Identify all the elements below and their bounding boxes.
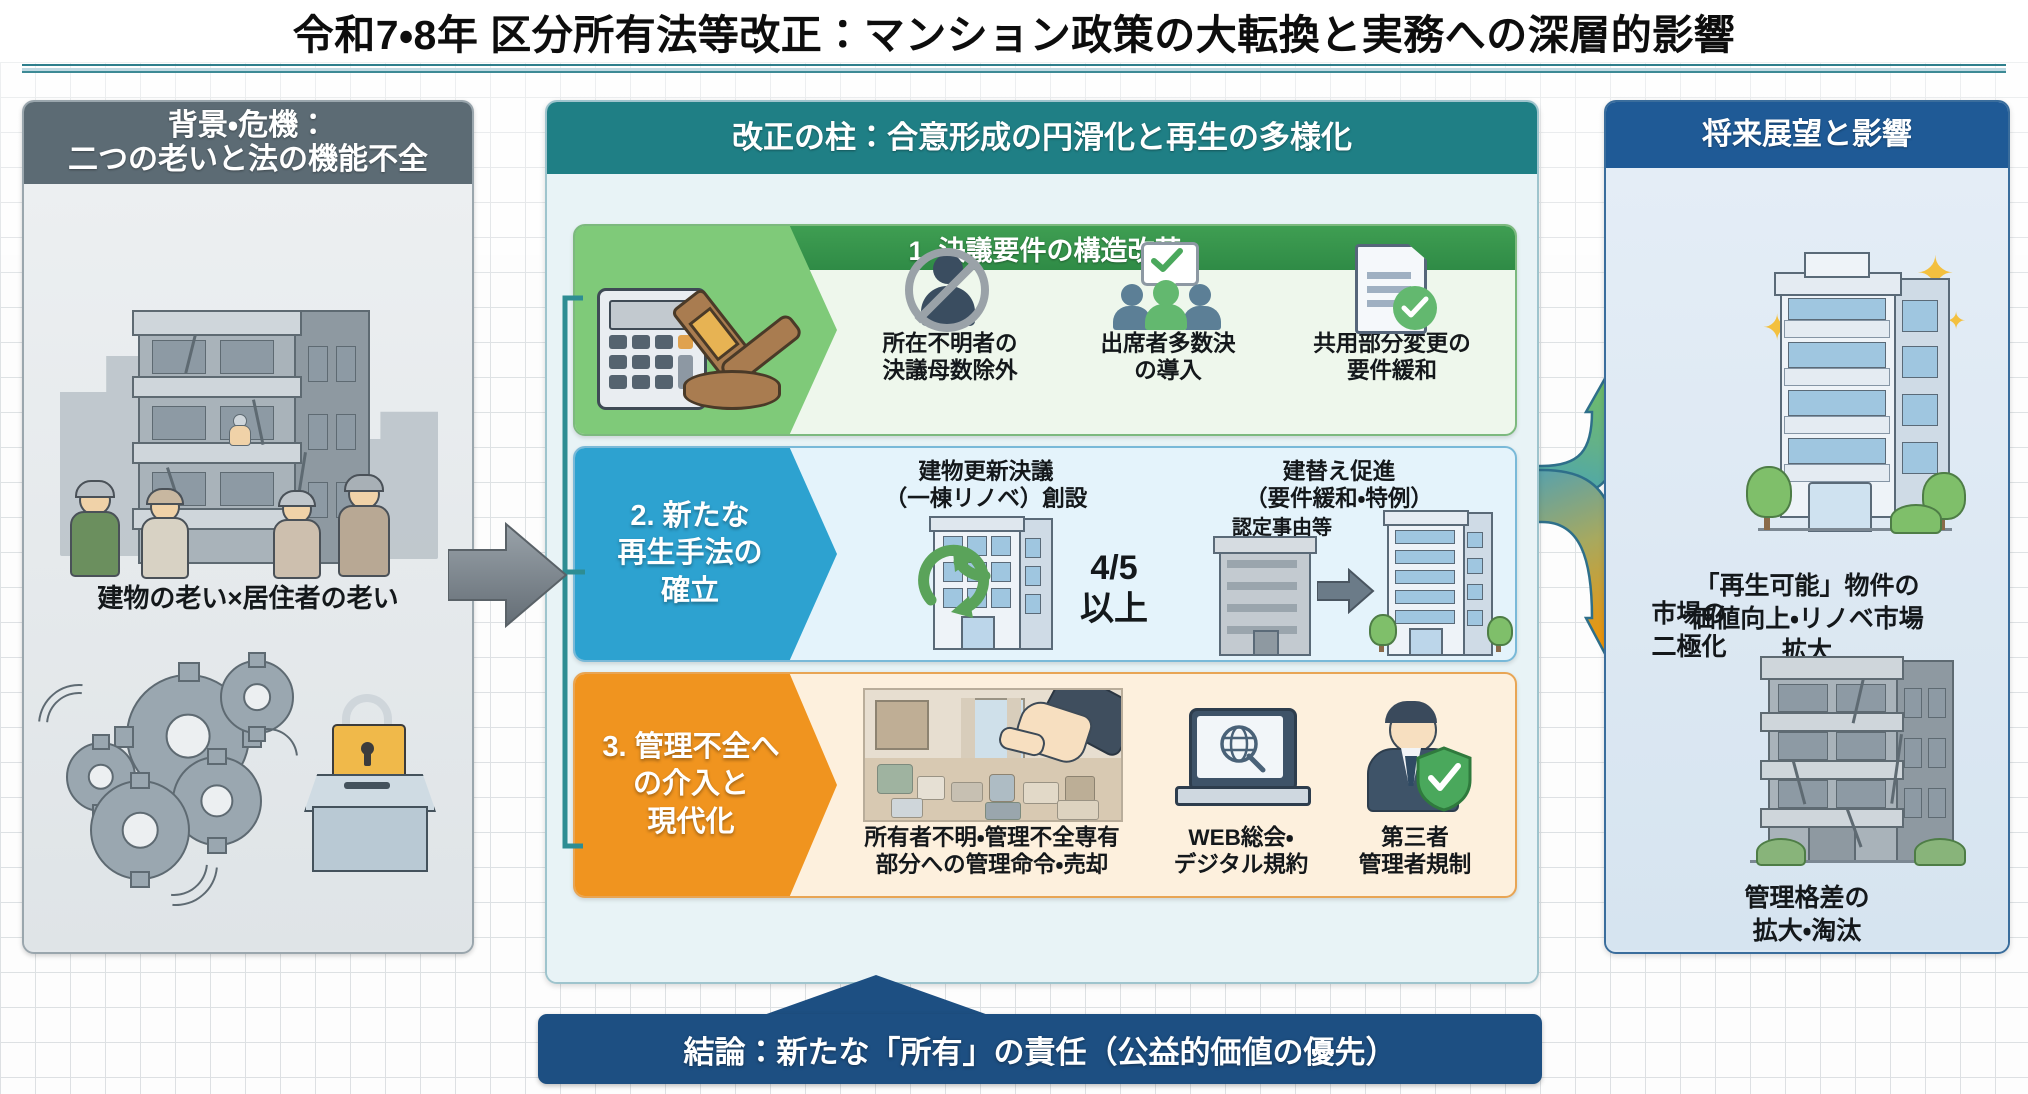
no-person-icon — [905, 252, 995, 328]
right-panel-body: ✦ ✦ ✦ ✦ — [1606, 168, 2008, 950]
page-title: 令和7・8年 区分所有法等改正：マンション政策の大転換と実務への深層的影響 — [0, 0, 2028, 62]
right-caption-management-gap-line1: 管理格差の — [1606, 882, 2008, 915]
section-1-item-1-line1: 所在不明者の — [845, 330, 1055, 357]
grey-right-arrow-icon — [448, 520, 568, 630]
section-3-item-1-line2: 部分への管理命令・売却 — [837, 851, 1147, 878]
right-caption-management-gap-line2: 拡大・淘汰 — [1606, 915, 2008, 948]
section-2-item-2-label: 建替え促進 （要件緩和・特例） — [1189, 458, 1489, 513]
laptop-globe-icon — [1175, 708, 1305, 812]
market-polarization-label: 市場の 二極化 — [1614, 598, 1764, 663]
section-2-threshold-badge: 4/5 以上 — [1059, 548, 1169, 631]
section-2-title-line1: 2. 新たな — [617, 498, 762, 535]
section-2-item-2-line2: （要件緩和・特例） — [1189, 485, 1489, 512]
group-vote-icon — [1113, 242, 1223, 328]
section-3-title-line2: の介入と — [602, 766, 779, 803]
right-panel-header: 将来展望と影響 — [1606, 102, 2008, 168]
section-3-item-3-line1: 第三者 — [1337, 824, 1493, 851]
section-3-item-1-line1: 所有者不明・管理不全専有 — [837, 824, 1147, 851]
left-panel-header-line1: 背景・危機： — [68, 109, 428, 144]
section-3-item-2-line1: WEB総会・ — [1163, 824, 1319, 851]
gavel-icon — [659, 274, 799, 414]
deteriorated-building-icon — [1750, 638, 1972, 872]
left-caption-aging: 建物の老い×居住者の老い — [24, 582, 472, 616]
section-1-item-2-line1: 出席者多数決 — [1063, 330, 1273, 357]
section-3-item-2-line2: デジタル規約 — [1163, 851, 1319, 878]
section-1-resolution-reform: 1. 決議要件の構造改革 — [573, 224, 1517, 436]
right-caption-management-gap: 管理格差の 拡大・淘汰 — [1606, 882, 2008, 947]
section-2-item-1-label: 建物更新決議 （一棟リノベ）創設 — [855, 458, 1117, 513]
section-2-new-regeneration-methods: 2. 新たな 再生手法の 確立 建物更新決議 （一棟リノベ）創設 — [573, 446, 1517, 662]
left-panel-body: 建物の老い×居住者の老い — [24, 184, 472, 950]
document-check-icon — [1345, 244, 1441, 330]
gears-icon — [52, 632, 302, 882]
section-3-chevron: 3. 管理不全へ の介入と 現代化 — [575, 674, 837, 896]
section-3-title-line3: 現代化 — [602, 804, 779, 841]
elderly-residents-icon — [56, 466, 440, 576]
section-1-item-3-line1: 共用部分変更の — [1279, 330, 1505, 357]
section-2-threshold-fraction: 4/5 — [1059, 548, 1169, 589]
center-panel-header: 改正の柱：合意形成の円滑化と再生の多様化 — [547, 102, 1537, 174]
section-1-item-3-line2: 要件緩和 — [1279, 357, 1505, 384]
right-panel-outlook-impact: 将来展望と影響 ✦ ✦ ✦ ✦ — [1604, 100, 2010, 954]
left-panel-background-crisis: 背景・危機： 二つの老いと法の機能不全 — [22, 100, 474, 954]
section-3-item-3-label: 第三者 管理者規制 — [1337, 824, 1493, 879]
section-2-item-2-line1: 建替え促進 — [1189, 458, 1489, 485]
left-panel-header-line2: 二つの老いと法の機能不全 — [68, 143, 428, 178]
section-3-management-intervention: 3. 管理不全へ の介入と 現代化 — [573, 672, 1517, 898]
center-panel-body: 1. 決議要件の構造改革 — [547, 174, 1537, 984]
title-divider-rule — [22, 64, 2006, 73]
section-1-item-2: 出席者多数決 の導入 — [1063, 330, 1273, 385]
conclusion-banner: 結論：新たな「所有」の責任（公益的価値の優先） — [538, 1014, 1542, 1084]
section-2-item-1-line1: 建物更新決議 — [855, 458, 1117, 485]
market-polarization-line2: 二極化 — [1614, 631, 1764, 664]
market-polarization-line1: 市場の — [1614, 598, 1764, 631]
section-3-item-2-label: WEB総会・ デジタル規約 — [1163, 824, 1319, 879]
section-3-item-1-label: 所有者不明・管理不全専有 部分への管理命令・売却 — [837, 824, 1147, 879]
conclusion-up-arrow-icon — [758, 975, 994, 1017]
section-1-item-1: 所在不明者の 決議母数除外 — [845, 330, 1055, 385]
balcony-resident-icon — [228, 414, 250, 444]
locked-ballot-box-icon — [298, 694, 438, 874]
section-2-title-line3: 確立 — [617, 573, 762, 610]
rebuild-arrow-icon — [1209, 510, 1509, 656]
section-1-chevron — [575, 226, 837, 434]
section-3-title-line1: 3. 管理不全へ — [602, 729, 779, 766]
cluttered-room-pointing-hand-icon — [863, 688, 1123, 822]
section-2-title-line2: 再生手法の — [617, 535, 762, 572]
manager-shield-icon — [1353, 704, 1473, 814]
left-panel-header: 背景・危機： 二つの老いと法の機能不全 — [24, 102, 472, 184]
section-1-item-2-line2: の導入 — [1063, 357, 1273, 384]
sparkling-new-building-icon: ✦ ✦ ✦ ✦ — [1740, 228, 1968, 558]
section-2-item-1-line2: （一棟リノベ）創設 — [855, 485, 1117, 512]
section-1-item-3: 共用部分変更の 要件緩和 — [1279, 330, 1505, 385]
section-3-item-3-line2: 管理者規制 — [1337, 851, 1493, 878]
section-2-chevron: 2. 新たな 再生手法の 確立 — [575, 448, 837, 660]
section-2-threshold-suffix: 以上 — [1059, 589, 1169, 630]
renovation-building-icon — [929, 510, 1053, 650]
center-panel-reform-pillars: 改正の柱：合意形成の円滑化と再生の多様化 1. 決議要件の構造改革 — [545, 100, 1539, 984]
section-1-item-1-line2: 決議母数除外 — [845, 357, 1055, 384]
